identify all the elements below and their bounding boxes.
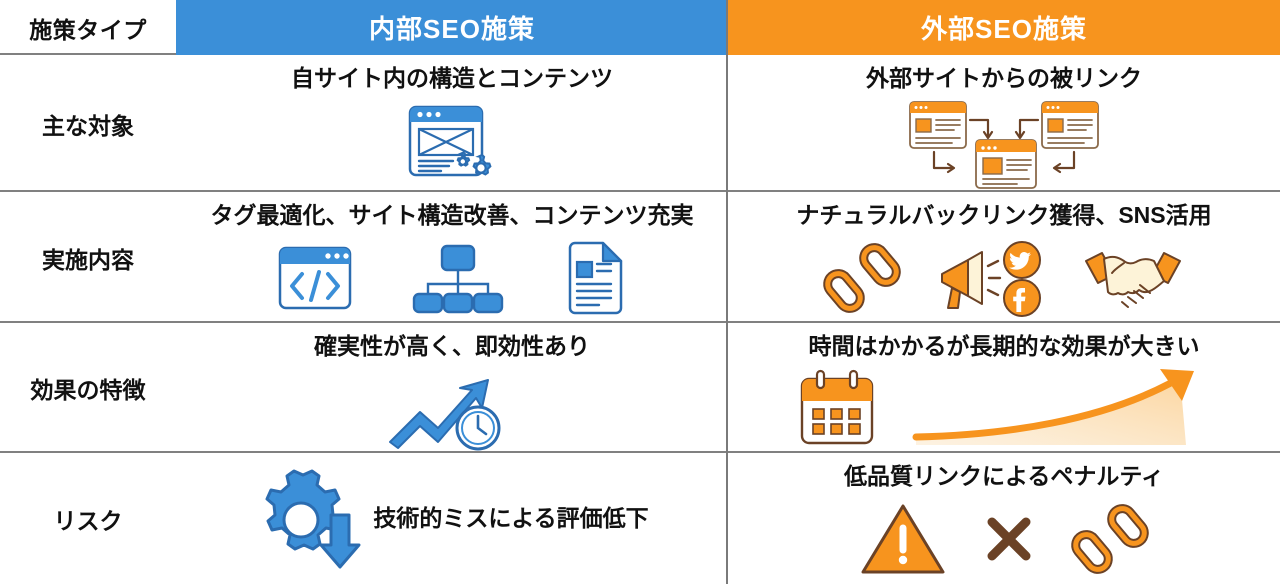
cell-text: 時間はかかるが長期的な効果が大きい <box>809 333 1200 361</box>
icon-group <box>384 365 520 453</box>
row-label-risk: リスク <box>0 453 176 584</box>
cell-text: 自サイト内の構造とコンテンツ <box>291 65 613 93</box>
cell-text: 外部サイトからの被リンク <box>866 65 1142 93</box>
multiply-x-icon <box>982 512 1036 566</box>
cell-external-implementation: ナチュラルバックリンク獲得、SNS活用 <box>728 192 1280 323</box>
handshake-icon <box>1080 243 1186 313</box>
sitemap-icon <box>410 242 506 314</box>
row-label-text: 効果の特徴 <box>31 371 146 405</box>
row-label-effect: 効果の特徴 <box>0 323 176 453</box>
cell-text: 確実性が高く、即効性あり <box>314 333 590 361</box>
browser-wireframe-gears-icon <box>404 101 500 187</box>
icon-group <box>276 234 628 323</box>
chain-link-icon <box>822 238 902 318</box>
row-label-text: リスク <box>54 502 123 536</box>
row-label-implementation: 実施内容 <box>0 192 176 323</box>
long-term-growth-curve-icon <box>912 367 1212 451</box>
row-label-text: 実施内容 <box>42 241 134 275</box>
row-label-main-target: 主な対象 <box>0 55 176 192</box>
header-label-policy-type: 施策タイプ <box>29 11 147 45</box>
icon-group <box>404 97 500 192</box>
cell-text: 技術的ミスによる評価低下 <box>373 505 648 533</box>
row-label-text: 主な対象 <box>42 107 134 141</box>
growth-arrow-clock-icon <box>384 366 520 452</box>
cell-text: 低品質リンクによるペナルティ <box>844 463 1164 491</box>
cell-text: タグ最適化、サイト構造改善、コンテンツ充実 <box>211 202 694 230</box>
gear-down-arrow-icon <box>255 465 363 573</box>
header-cell-external-seo: 外部SEO施策 <box>728 0 1280 55</box>
cell-internal-implementation: タグ最適化、サイト構造改善、コンテンツ充実 <box>176 192 728 323</box>
cell-internal-risk: 技術的ミスによる評価低下 <box>176 453 728 584</box>
backlink-network-icon <box>904 98 1104 190</box>
comparison-table: 施策タイプ 内部SEO施策 外部SEO施策 主な対象 自サイト内の構造とコンテン… <box>0 0 1280 584</box>
header-label-external-seo: 外部SEO施策 <box>921 9 1087 46</box>
document-icon <box>562 240 628 316</box>
cell-internal-effect: 確実性が高く、即効性あり <box>176 323 728 453</box>
calendar-icon <box>796 369 878 449</box>
megaphone-social-icon <box>936 236 1046 320</box>
code-browser-icon <box>276 242 354 314</box>
chain-link-icon <box>1070 499 1150 579</box>
header-cell-internal-seo: 内部SEO施策 <box>176 0 728 55</box>
cell-text: ナチュラルバックリンク獲得、SNS活用 <box>796 202 1211 230</box>
cell-external-main-target: 外部サイトからの被リンク <box>728 55 1280 192</box>
cell-external-effect: 時間はかかるが長期的な効果が大きい <box>728 323 1280 453</box>
icon-group <box>858 495 1150 584</box>
cell-internal-main-target: 自サイト内の構造とコンテンツ <box>176 55 728 192</box>
icon-group <box>796 365 1212 453</box>
icon-group <box>822 234 1186 323</box>
cell-external-risk: 低品質リンクによるペナルティ <box>728 453 1280 584</box>
header-cell-policy-type: 施策タイプ <box>0 0 176 55</box>
warning-triangle-icon <box>858 500 948 578</box>
header-label-internal-seo: 内部SEO施策 <box>369 9 535 46</box>
icon-group <box>904 97 1104 192</box>
